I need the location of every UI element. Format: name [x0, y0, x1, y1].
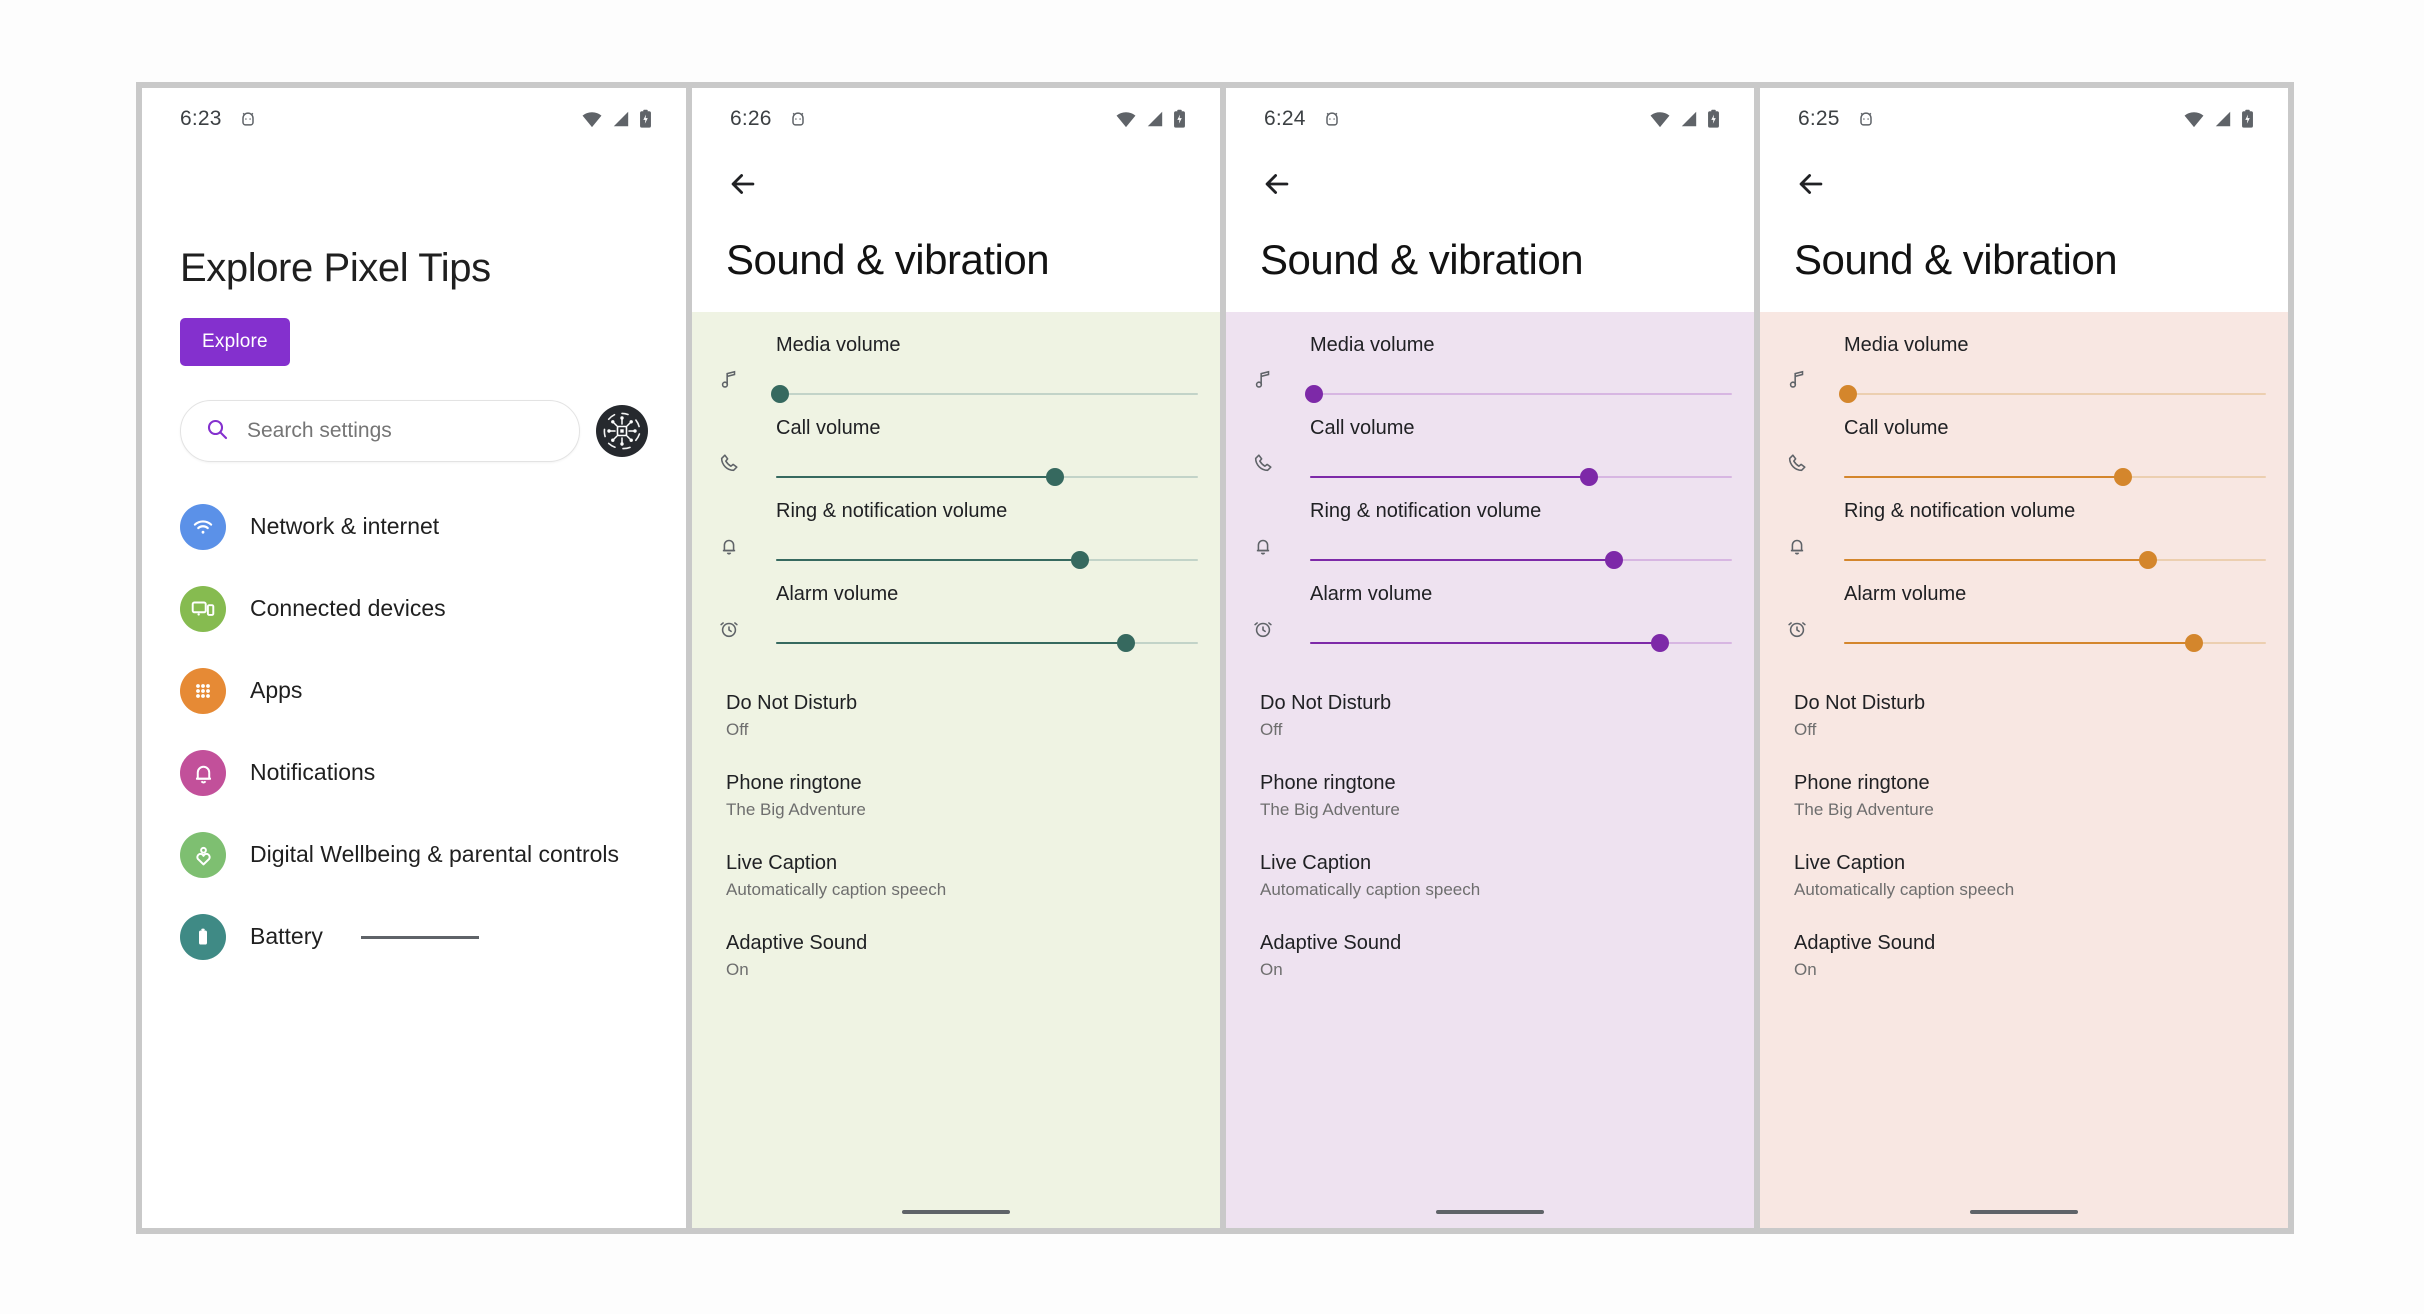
sidebar-item-notifications[interactable]: Notifications [180, 750, 648, 796]
signal-icon [1680, 110, 1698, 128]
sidebar-item-connected-devices[interactable]: Connected devices [180, 586, 648, 632]
android-bug-icon [1322, 109, 1342, 129]
status-left: 6:25 [1798, 107, 1876, 131]
slider-label: Alarm volume [1844, 583, 2266, 606]
slider-row-media: Media volume [692, 334, 1220, 405]
status-right [581, 109, 652, 129]
nav-handle[interactable] [1436, 1210, 1544, 1214]
option-sub: Automatically caption speech [726, 880, 1186, 900]
status-bar: 6:25 [1760, 88, 2288, 150]
slider-row-alarm: Alarm volume [1226, 583, 1754, 654]
option-adaptive-sound[interactable]: Adaptive Sound On [726, 932, 1186, 980]
option-title: Phone ringtone [726, 772, 1186, 795]
sound-content: Media volume Call volume Ring & notifica… [1760, 312, 2288, 1228]
option-phone-ringtone[interactable]: Phone ringtone The Big Adventure [1794, 772, 2254, 820]
slider-label: Call volume [776, 417, 1198, 440]
slider-row-ring: Ring & notification volume [1760, 500, 2288, 571]
explore-button[interactable]: Explore [180, 318, 290, 366]
search-input[interactable]: Search settings [180, 400, 580, 462]
pixel-tips-body: Explore Pixel Tips Explore Search settin… [142, 246, 686, 960]
search-row: Search settings [180, 400, 648, 462]
slider-alarm[interactable]: Alarm volume [1292, 583, 1732, 654]
slider-ring[interactable]: Ring & notification volume [1292, 500, 1732, 571]
option-do-not-disturb[interactable]: Do Not Disturb Off [726, 692, 1186, 740]
option-sub: Off [1794, 720, 2254, 740]
options-list: Do Not Disturb Off Phone ringtone The Bi… [1226, 666, 1754, 980]
panel-sound-green: 6:26 [692, 88, 1220, 1228]
bell-icon [1786, 500, 1826, 558]
slider-alarm[interactable]: Alarm volume [1826, 583, 2266, 654]
wifi-icon [180, 504, 226, 550]
phone-call-icon [1252, 417, 1292, 475]
sidebar-item-label: Battery [250, 921, 323, 952]
sound-content: Media volume Call volume Ring & notifica… [692, 312, 1220, 1228]
bell-icon [1252, 500, 1292, 558]
music-note-icon [1252, 334, 1292, 392]
option-title: Do Not Disturb [726, 692, 1186, 715]
sidebar-item-label: Notifications [250, 757, 375, 788]
sidebar-item-label: Digital Wellbeing & parental controls [250, 839, 619, 870]
alarm-clock-icon [1786, 583, 1826, 641]
option-title: Adaptive Sound [1794, 932, 2254, 955]
option-sub: The Big Adventure [1794, 800, 2254, 820]
music-note-icon [718, 334, 758, 392]
slider-ring[interactable]: Ring & notification volume [758, 500, 1198, 571]
signal-icon [612, 110, 630, 128]
battery-charging-icon [1707, 109, 1720, 129]
option-adaptive-sound[interactable]: Adaptive Sound On [1794, 932, 2254, 980]
top-bar [692, 150, 1220, 218]
slider-label: Ring & notification volume [1844, 500, 2266, 523]
slider-row-ring: Ring & notification volume [692, 500, 1220, 571]
option-sub: The Big Adventure [1260, 800, 1720, 820]
wifi-icon [2183, 110, 2205, 128]
slider-label: Media volume [1310, 334, 1732, 357]
option-title: Live Caption [1794, 852, 2254, 875]
option-sub: Off [726, 720, 1186, 740]
status-left: 6:26 [730, 107, 808, 131]
option-live-caption[interactable]: Live Caption Automatically caption speec… [726, 852, 1186, 900]
page-title: Explore Pixel Tips [180, 246, 648, 290]
wifi-icon [1115, 110, 1137, 128]
status-time: 6:23 [180, 107, 222, 131]
option-sub: Automatically caption speech [1260, 880, 1720, 900]
status-right [1115, 109, 1186, 129]
wifi-icon [1649, 110, 1671, 128]
battery-charging-icon [1173, 109, 1186, 129]
status-right [2183, 109, 2254, 129]
screenshot-filmstrip: 6:23 [136, 82, 2294, 1234]
option-title: Live Caption [726, 852, 1186, 875]
status-bar: 6:23 [142, 88, 686, 150]
android-bug-icon [1856, 109, 1876, 129]
slider-label: Ring & notification volume [776, 500, 1198, 523]
option-title: Do Not Disturb [1260, 692, 1720, 715]
slider-media[interactable]: Media volume [1826, 334, 2266, 405]
music-note-icon [1786, 334, 1826, 392]
sidebar-item-battery[interactable]: Battery [180, 914, 648, 960]
sidebar-item-label: Apps [250, 675, 302, 706]
search-placeholder: Search settings [247, 419, 392, 443]
option-do-not-disturb[interactable]: Do Not Disturb Off [1794, 692, 2254, 740]
option-title: Phone ringtone [1794, 772, 2254, 795]
option-title: Adaptive Sound [726, 932, 1186, 955]
slider-label: Call volume [1844, 417, 2266, 440]
back-arrow-icon[interactable] [726, 167, 760, 201]
slider-call[interactable]: Call volume [1292, 417, 1732, 488]
option-title: Live Caption [1260, 852, 1720, 875]
option-phone-ringtone[interactable]: Phone ringtone The Big Adventure [1260, 772, 1720, 820]
battery-icon [180, 914, 226, 960]
options-list: Do Not Disturb Off Phone ringtone The Bi… [1760, 666, 2288, 980]
sidebar-item-network[interactable]: Network & internet [180, 504, 648, 550]
slider-call[interactable]: Call volume [1826, 417, 2266, 488]
option-title: Do Not Disturb [1794, 692, 2254, 715]
phone-call-icon [1786, 417, 1826, 475]
slider-label: Alarm volume [776, 583, 1198, 606]
status-time: 6:26 [730, 107, 772, 131]
option-sub: Automatically caption speech [1794, 880, 2254, 900]
slider-label: Ring & notification volume [1310, 500, 1732, 523]
signal-icon [1146, 110, 1164, 128]
back-arrow-icon[interactable] [1794, 167, 1828, 201]
slider-row-alarm: Alarm volume [1760, 583, 2288, 654]
status-bar: 6:24 [1226, 88, 1754, 150]
option-phone-ringtone[interactable]: Phone ringtone The Big Adventure [726, 772, 1186, 820]
battery-charging-icon [639, 109, 652, 129]
phone-call-icon [718, 417, 758, 475]
page-title: Sound & vibration [692, 236, 1220, 284]
status-bar: 6:26 [692, 88, 1220, 150]
option-title: Adaptive Sound [1260, 932, 1720, 955]
nav-handle[interactable] [902, 1210, 1010, 1214]
option-adaptive-sound[interactable]: Adaptive Sound On [1260, 932, 1720, 980]
slider-label: Media volume [1844, 334, 2266, 357]
apps-grid-icon [180, 668, 226, 714]
slider-row-call: Call volume [1760, 417, 2288, 488]
sidebar-item-apps[interactable]: Apps [180, 668, 648, 714]
slider-row-call: Call volume [692, 417, 1220, 488]
slider-call[interactable]: Call volume [758, 417, 1198, 488]
options-list: Do Not Disturb Off Phone ringtone The Bi… [692, 666, 1220, 980]
slider-row-ring: Ring & notification volume [1226, 500, 1754, 571]
top-bar [1226, 150, 1754, 218]
screenshot-stage: 6:23 [0, 0, 2424, 1314]
option-sub: Off [1260, 720, 1720, 740]
sound-content: Media volume Call volume Ring & notifica… [1226, 312, 1754, 1228]
nav-handle[interactable] [1970, 1210, 2078, 1214]
option-sub: On [726, 960, 1186, 980]
status-time: 6:24 [1264, 107, 1306, 131]
battery-value-redaction [361, 936, 479, 939]
battery-charging-icon [2241, 109, 2254, 129]
alarm-clock-icon [1252, 583, 1292, 641]
back-arrow-icon[interactable] [1260, 167, 1294, 201]
panel-sound-orange: 6:25 [1760, 88, 2288, 1228]
status-time: 6:25 [1798, 107, 1840, 131]
sidebar-item-label: Connected devices [250, 593, 446, 624]
bell-icon [718, 500, 758, 558]
search-icon [205, 417, 229, 446]
slider-row-media: Media volume [1760, 334, 2288, 405]
slider-row-call: Call volume [1226, 417, 1754, 488]
status-left: 6:24 [1264, 107, 1342, 131]
bell-icon [180, 750, 226, 796]
slider-ring[interactable]: Ring & notification volume [1826, 500, 2266, 571]
top-bar [1760, 150, 2288, 218]
signal-icon [2214, 110, 2232, 128]
sidebar-item-digital-wellbeing[interactable]: Digital Wellbeing & parental controls [180, 832, 648, 878]
option-title: Phone ringtone [1260, 772, 1720, 795]
devices-icon [180, 586, 226, 632]
slider-label: Call volume [1310, 417, 1732, 440]
panel-sound-purple: 6:24 [1226, 88, 1754, 1228]
android-bug-icon [788, 109, 808, 129]
chip-avatar-icon[interactable] [596, 405, 648, 457]
status-left: 6:23 [180, 107, 258, 131]
option-sub: The Big Adventure [726, 800, 1186, 820]
slider-label: Alarm volume [1310, 583, 1732, 606]
slider-media[interactable]: Media volume [1292, 334, 1732, 405]
wellbeing-icon [180, 832, 226, 878]
android-bug-icon [238, 109, 258, 129]
option-sub: On [1260, 960, 1720, 980]
settings-list: Network & internet Connected devices [180, 504, 648, 960]
slider-alarm[interactable]: Alarm volume [758, 583, 1198, 654]
option-sub: On [1794, 960, 2254, 980]
option-live-caption[interactable]: Live Caption Automatically caption speec… [1260, 852, 1720, 900]
panel-pixel-tips: 6:23 [142, 88, 686, 1228]
wifi-icon [581, 110, 603, 128]
slider-label: Media volume [776, 334, 1198, 357]
option-do-not-disturb[interactable]: Do Not Disturb Off [1260, 692, 1720, 740]
option-live-caption[interactable]: Live Caption Automatically caption speec… [1794, 852, 2254, 900]
page-title: Sound & vibration [1760, 236, 2288, 284]
slider-row-alarm: Alarm volume [692, 583, 1220, 654]
slider-row-media: Media volume [1226, 334, 1754, 405]
status-right [1649, 109, 1720, 129]
alarm-clock-icon [718, 583, 758, 641]
slider-media[interactable]: Media volume [758, 334, 1198, 405]
page-title: Sound & vibration [1226, 236, 1754, 284]
sidebar-item-label: Network & internet [250, 511, 439, 542]
